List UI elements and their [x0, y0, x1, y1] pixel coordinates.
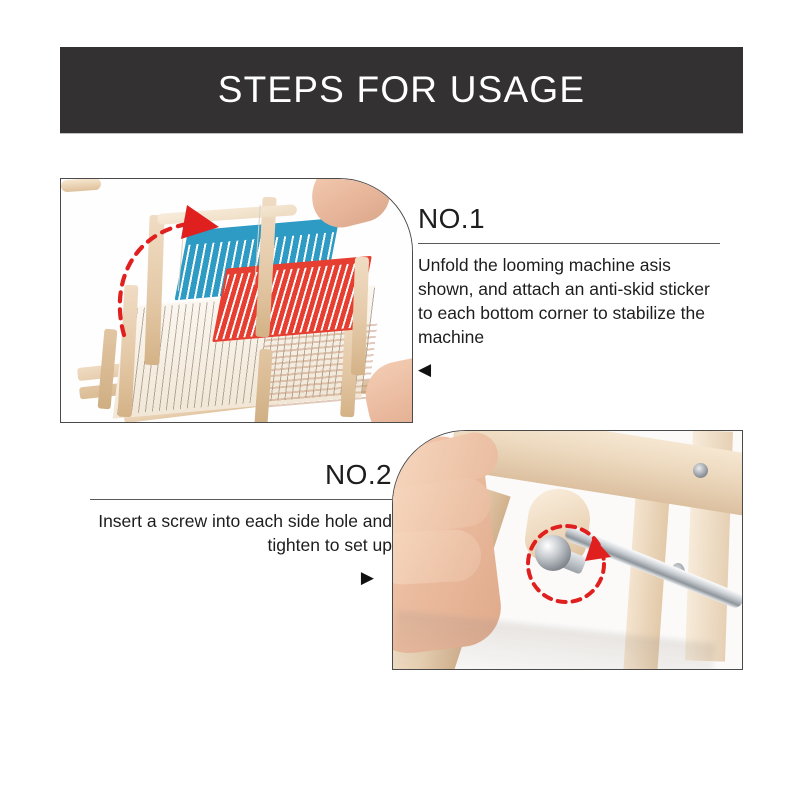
step-1-arrow-icon: ◀	[418, 361, 720, 378]
tighten-rotation-arrow-icon	[511, 509, 621, 619]
screw-hole-upper	[693, 463, 708, 478]
step-2-arrow-icon: ▶	[90, 569, 392, 586]
step-2-description: Insert a screw into each side hole and t…	[90, 509, 392, 557]
finger-ring	[393, 528, 482, 585]
step-2-photo-panel	[392, 430, 743, 670]
step-1-photo	[61, 179, 412, 422]
step-2-photo	[393, 431, 742, 669]
step-1-photo-panel	[60, 178, 413, 423]
step-1-divider	[418, 243, 720, 244]
step-2-text-block: NO.2 Insert a screw into each side hole …	[90, 460, 392, 586]
step-2-label: NO.2	[90, 460, 392, 491]
step-1-description: Unfold the looming machine asis shown, a…	[418, 253, 720, 350]
step-1-label: NO.1	[418, 204, 720, 235]
step-2-divider	[90, 499, 392, 500]
unfold-arrow-icon	[69, 185, 249, 345]
header-banner: STEPS FOR USAGE	[60, 47, 743, 133]
step-1-text-block: NO.1 Unfold the looming machine asis sho…	[418, 204, 720, 378]
page-title: STEPS FOR USAGE	[218, 69, 586, 111]
